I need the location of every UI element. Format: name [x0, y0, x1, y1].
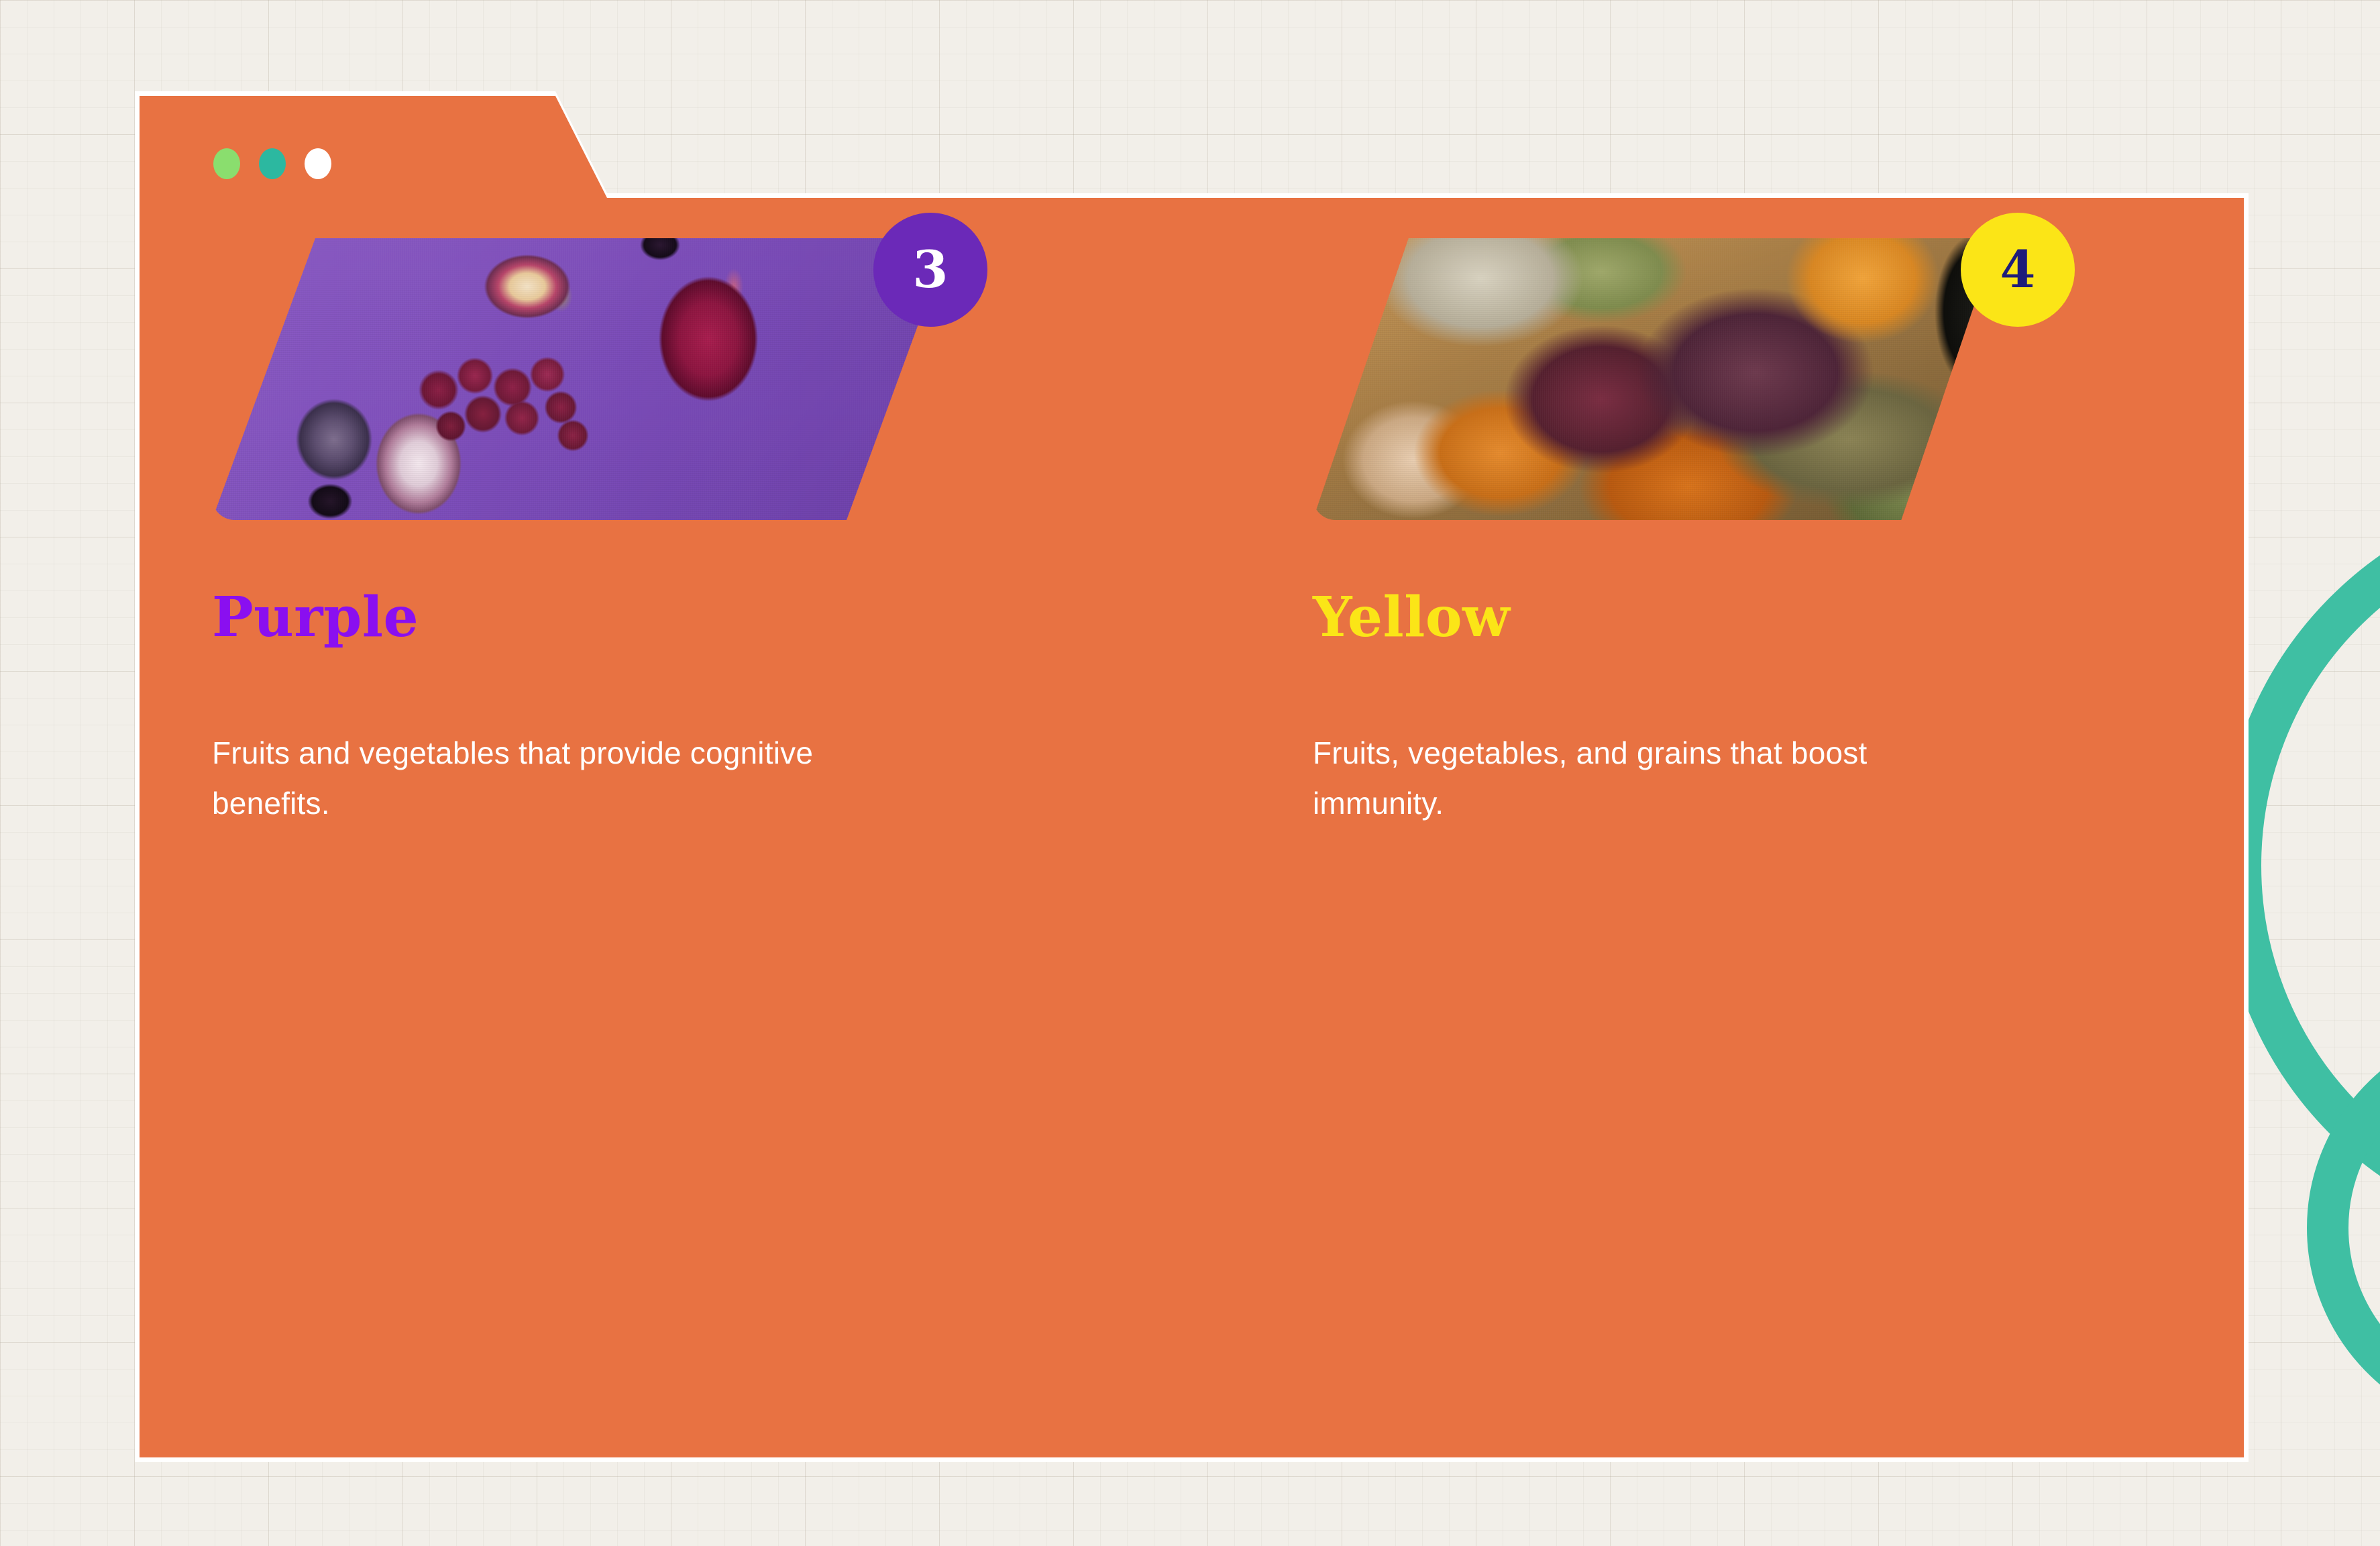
card-purple-description: Fruits and vegetables that provide cogni…: [212, 728, 896, 828]
card-purple-title: Purple: [212, 588, 1143, 646]
purple-produce-photo: [212, 238, 950, 520]
card-purple: 3 Purple Fruits and vegetables that prov…: [140, 198, 1143, 1457]
card-purple-number-badge: 3: [873, 213, 987, 327]
purple-image-frame: [212, 238, 950, 520]
card-yellow-description: Fruits, vegetables, and grains that boos…: [1313, 728, 1984, 828]
card-yellow-media: 4: [1313, 238, 2091, 520]
folder-window-panel: 3 Purple Fruits and vegetables that prov…: [140, 96, 2244, 1457]
card-purple-media: 3: [212, 238, 990, 520]
yellow-image-frame: [1313, 238, 1997, 520]
dotted-divider: [1193, 136, 1202, 1022]
maximize-dot[interactable]: [259, 148, 286, 179]
minimize-dot[interactable]: [213, 148, 240, 179]
card-yellow: 4 Yellow Fruits, vegetables, and grains …: [1143, 198, 2244, 1457]
badge-number-label: 4: [2000, 244, 2036, 295]
close-dot[interactable]: [305, 148, 331, 179]
card-yellow-number-badge: 4: [1961, 213, 2075, 327]
window-controls[interactable]: [213, 148, 331, 179]
badge-number-label: 3: [913, 244, 949, 295]
card-grid: 3 Purple Fruits and vegetables that prov…: [140, 198, 2244, 1457]
card-yellow-title: Yellow: [1313, 588, 2244, 646]
harvest-produce-photo: [1313, 238, 1997, 520]
